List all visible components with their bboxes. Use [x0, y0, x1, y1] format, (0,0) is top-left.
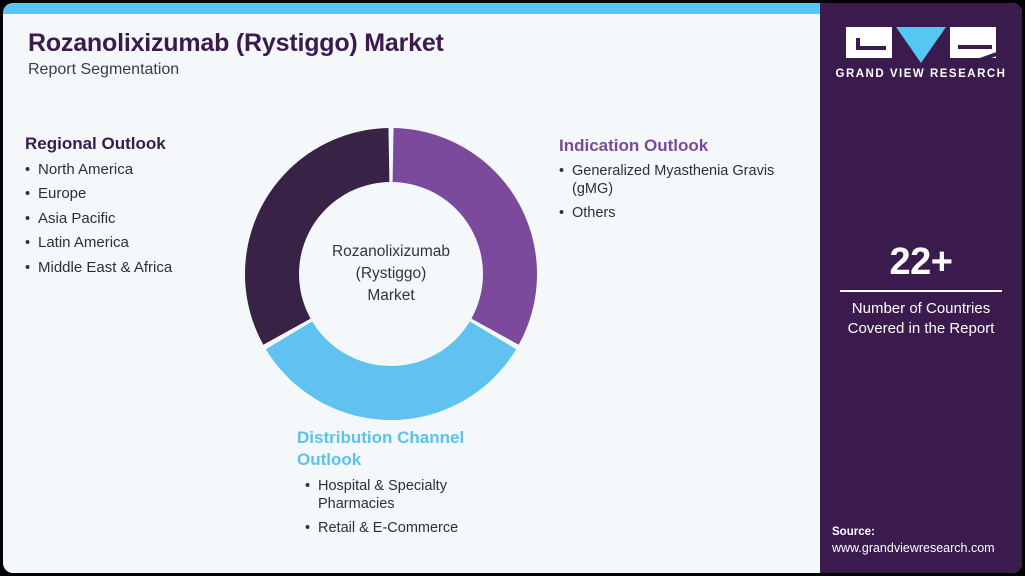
donut-chart: Rozanolixizumab (Rystiggo) Market — [245, 128, 537, 420]
segment-distribution-outlook: Distribution Channel Outlook Hospital & … — [297, 427, 527, 537]
list-item: Europe — [25, 185, 255, 203]
logo-r-icon — [950, 27, 996, 58]
segment-list-indication: Generalized Myasthenia Gravis (gMG) Othe… — [559, 162, 809, 222]
list-item: Asia Pacific — [25, 210, 255, 228]
countries-stat: 22+ Number of Countries Covered in the R… — [820, 241, 1022, 339]
side-panel: GRAND VIEW RESEARCH 22+ Number of Countr… — [820, 3, 1022, 573]
donut-slice — [245, 128, 389, 345]
segment-title-indication: Indication Outlook — [559, 135, 809, 156]
segment-list-regional: North America Europe Asia Pacific Latin … — [25, 161, 255, 277]
logo-marks — [846, 27, 996, 61]
logo-g-icon — [846, 27, 892, 58]
list-item: Retail & E-Commerce — [305, 519, 527, 537]
stat-value: 22+ — [820, 241, 1022, 283]
list-item: Others — [559, 204, 809, 222]
source-heading: Source: — [832, 524, 1022, 540]
list-item: Latin America — [25, 234, 255, 252]
page-subtitle: Report Segmentation — [28, 61, 179, 79]
donut-center-label: Rozanolixizumab (Rystiggo) Market — [296, 241, 486, 307]
stat-label-line-2: Covered in the Report — [820, 319, 1022, 339]
donut-center-line-1: Rozanolixizumab — [296, 241, 486, 263]
list-item: Generalized Myasthenia Gravis (gMG) — [559, 162, 809, 198]
logo-wordmark: GRAND VIEW RESEARCH — [836, 68, 1007, 80]
list-item: North America — [25, 161, 255, 179]
list-item: Hospital & Specialty Pharmacies — [305, 477, 527, 513]
list-item: Middle East & Africa — [25, 259, 255, 277]
segment-list-distribution: Hospital & Specialty Pharmacies Retail &… — [297, 477, 527, 537]
brand-logo: GRAND VIEW RESEARCH — [820, 27, 1022, 80]
page-title: Rozanolixizumab (Rystiggo) Market — [28, 29, 444, 58]
top-accent-bar — [3, 3, 821, 14]
donut-slice — [266, 321, 516, 420]
logo-v-triangle-icon — [896, 27, 946, 63]
segment-title-distribution: Distribution Channel Outlook — [297, 427, 527, 471]
source-url[interactable]: www.grandviewresearch.com — [832, 540, 1022, 557]
segment-indication-outlook: Indication Outlook Generalized Myastheni… — [559, 135, 809, 222]
donut-center-line-2: (Rystiggo) — [296, 263, 486, 285]
donut-center-line-3: Market — [296, 285, 486, 307]
donut-slice — [393, 128, 537, 345]
segment-title-regional: Regional Outlook — [25, 133, 255, 154]
source-block: Source: www.grandviewresearch.com — [832, 524, 1022, 557]
segment-regional-outlook: Regional Outlook North America Europe As… — [25, 133, 255, 277]
stat-label-line-1: Number of Countries — [820, 299, 1022, 319]
infographic-root: Rozanolixizumab (Rystiggo) Market Report… — [0, 0, 1025, 576]
stat-divider — [840, 290, 1002, 292]
